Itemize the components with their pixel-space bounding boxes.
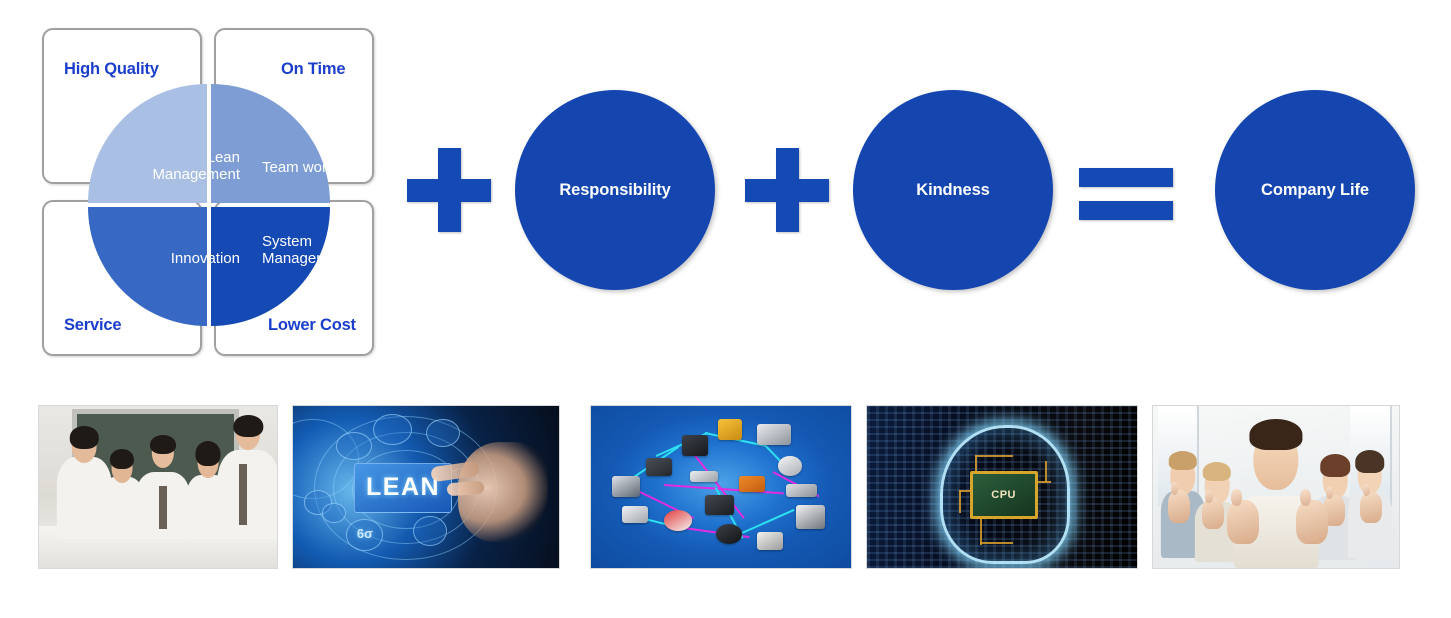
lean-icon-snowflake xyxy=(413,516,447,546)
photo-business-meeting xyxy=(38,405,278,569)
value-circle-company-life: Company Life xyxy=(1215,90,1415,290)
lean-word-label: LEAN xyxy=(366,473,440,502)
lean-icon-factory xyxy=(336,432,373,460)
photo-iot-network xyxy=(590,405,852,569)
network-node-scanner xyxy=(622,506,648,522)
photo-strip: LEAN 6σ xyxy=(0,396,1451,586)
person-hair xyxy=(110,449,134,469)
photo-ai-cpu-content: CPU xyxy=(867,406,1137,568)
network-node-shaft xyxy=(690,471,719,482)
lean-six-sigma-label: 6σ xyxy=(357,526,373,541)
lean-icon-crane xyxy=(373,414,412,445)
thumb-up-back-right-2 xyxy=(1360,492,1382,523)
cpu-circuit-trace xyxy=(975,455,977,473)
cpu-circuit-trace xyxy=(959,490,961,513)
thumb-up-front-left xyxy=(1227,500,1259,544)
photo-business-meeting-content xyxy=(39,406,277,568)
lean-icon-gear-small xyxy=(322,503,345,523)
segment-fill-team-work xyxy=(211,84,330,203)
photo-thumbs-up-team xyxy=(1152,405,1400,569)
network-node-motor xyxy=(705,495,734,514)
thumb-up-front-right xyxy=(1296,500,1328,544)
network-node-seat xyxy=(796,505,825,529)
cpu-circuit-trace xyxy=(1045,461,1047,482)
thumb-up-back-left-2 xyxy=(1202,498,1224,529)
thumb-up-back-left xyxy=(1168,490,1190,522)
value-equation-row: High Quality On Time Service Lower Cost … xyxy=(0,0,1451,380)
photo-lean-concept-content: LEAN 6σ xyxy=(293,406,559,568)
value-circle-kindness: Kindness xyxy=(853,90,1053,290)
network-node-camera xyxy=(682,435,708,456)
lean-icon-robot-arm xyxy=(426,419,460,447)
equals-bar-top xyxy=(1079,168,1173,187)
cpu-chip: CPU xyxy=(970,471,1038,519)
person-body xyxy=(218,450,277,539)
plus-operator-icon-2 xyxy=(745,148,829,232)
plus-bar-vertical xyxy=(438,148,461,232)
person-hair xyxy=(1249,419,1302,450)
meeting-person-5 xyxy=(215,406,277,539)
person-necktie xyxy=(159,486,167,529)
person-hair xyxy=(234,415,263,437)
network-node-laptop xyxy=(612,476,641,497)
quadrant-label-high-quality: High Quality xyxy=(64,60,159,79)
cpu-circuit-trace xyxy=(975,455,1013,457)
value-circle-responsibility: Responsibility xyxy=(515,90,715,290)
person-hair xyxy=(150,435,176,454)
quadrant-label-service: Service xyxy=(64,316,121,335)
segment-label-innovation: Innovation xyxy=(130,250,240,267)
quadrant-segment-team-work xyxy=(211,84,330,203)
photo-lean-concept: LEAN 6σ xyxy=(292,405,560,569)
network-node-sensor xyxy=(664,510,693,531)
network-node-disc xyxy=(778,456,801,475)
network-node-printer xyxy=(646,458,672,476)
photo-thumbs-up-team-content xyxy=(1153,406,1399,568)
segment-label-team-work: Team work xyxy=(262,159,372,176)
quadrant-label-lower-cost: Lower Cost xyxy=(268,316,356,335)
person-hair xyxy=(70,426,98,449)
quadrant-circle xyxy=(88,84,330,326)
person-hair xyxy=(1355,450,1385,473)
plus-operator-icon-1 xyxy=(407,148,491,232)
thumbs-person-front xyxy=(1227,412,1325,568)
person-necktie xyxy=(239,464,247,525)
network-node-spring xyxy=(786,484,817,497)
segment-label-system-management: System Management xyxy=(262,233,382,267)
network-node-valve xyxy=(757,532,783,550)
quadrant-matrix: High Quality On Time Service Lower Cost … xyxy=(42,28,375,356)
segment-fill-lean-management xyxy=(88,84,207,203)
cpu-chip-label: CPU xyxy=(991,489,1016,501)
cpu-circuit-trace xyxy=(980,542,1012,544)
photo-ai-cpu: CPU xyxy=(866,405,1138,569)
value-circle-label-responsibility: Responsibility xyxy=(559,181,670,200)
equals-bar-bottom xyxy=(1079,201,1173,220)
network-node-hub xyxy=(739,476,765,492)
network-node-tire xyxy=(716,524,742,543)
quadrant-label-on-time: On Time xyxy=(281,60,345,79)
photo-iot-network-content xyxy=(591,406,851,568)
segment-label-lean-management: Lean Management xyxy=(120,149,240,183)
value-circle-label-company-life: Company Life xyxy=(1261,181,1369,200)
network-node-engine xyxy=(757,424,791,445)
value-circle-label-kindness: Kindness xyxy=(916,181,989,200)
plus-bar-vertical xyxy=(776,148,799,232)
quadrant-segment-lean-management xyxy=(88,84,207,203)
network-node-canister xyxy=(718,419,741,440)
equals-operator-icon xyxy=(1079,168,1173,220)
